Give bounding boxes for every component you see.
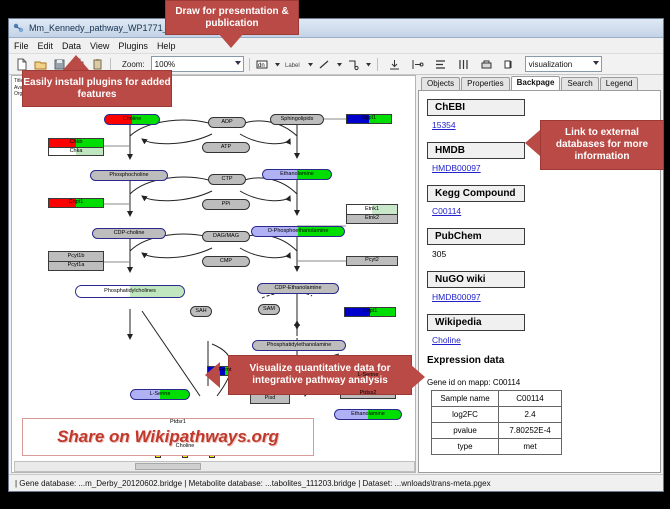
cell-key: log2FC xyxy=(432,407,499,423)
label-icon[interactable]: Label xyxy=(284,56,304,72)
menu-item-plugins[interactable]: Plugins xyxy=(118,41,148,51)
callout-links: Link to external databases for more info… xyxy=(540,120,664,170)
datanode-icon[interactable]: dn xyxy=(255,56,271,72)
node-pisd[interactable]: Pisd xyxy=(250,394,290,404)
node-pcyt1b[interactable]: Pcyt1b xyxy=(48,251,104,261)
db-link-kegg-compound[interactable]: C00114 xyxy=(432,206,652,216)
expression-table: Sample name C00114 log2FC 2.4 pvalue 7.8… xyxy=(431,390,562,455)
tab-properties[interactable]: Properties xyxy=(461,77,509,90)
label-dropdown-icon[interactable] xyxy=(307,56,314,72)
group-icon[interactable] xyxy=(479,56,495,72)
node-l-serine-left[interactable]: L-Serine xyxy=(130,389,190,400)
gene-id-on-mapp: Gene id on mapp: C00114 xyxy=(427,378,652,387)
node-chkb[interactable]: Chkb xyxy=(48,138,104,147)
node-choline-top[interactable]: Choline xyxy=(104,114,160,125)
db-link-wikipedia[interactable]: Choline xyxy=(432,335,652,345)
callout-draw-arrow xyxy=(218,33,244,48)
zoom-label: Zoom: xyxy=(122,60,145,69)
node-cdp-ethanolamine[interactable]: CDP-Ethanolamine xyxy=(257,283,339,294)
node-phosphocholine[interactable]: Phosphocholine xyxy=(90,170,168,181)
cell-key: Sample name xyxy=(432,391,499,407)
node-cept1[interactable]: Cept1 xyxy=(344,307,396,317)
callout-plugins: Easily install plugins for added feature… xyxy=(22,70,172,107)
pathway-drawing: Title: Availa Organi xyxy=(12,76,415,472)
db-header-kegg-compound: Kegg Compound xyxy=(427,185,525,202)
node-cmp[interactable]: CMP xyxy=(202,256,250,267)
table-row: log2FC 2.4 xyxy=(432,407,562,423)
interaction-icon[interactable] xyxy=(346,56,362,72)
share-banner-text: Share on Wikipathways.org xyxy=(57,427,279,447)
menu-item-view[interactable]: View xyxy=(90,41,109,51)
pathway-canvas[interactable]: Title: Availa Organi xyxy=(11,75,416,473)
db-link-nugo-wiki[interactable]: HMDB00097 xyxy=(432,292,652,302)
callout-visualize: Visualize quantitative data for integrat… xyxy=(228,355,412,395)
toolbar-separator xyxy=(110,58,111,71)
screenshot-root: Mm_Kennedy_pathway_WP1771_45176.gpml Fil… xyxy=(0,0,670,509)
node-ctp[interactable]: CTP xyxy=(208,174,246,185)
visualization-combo[interactable]: visualization xyxy=(525,56,602,72)
svg-text:Label: Label xyxy=(285,63,300,69)
table-row: Sample name C00114 xyxy=(432,391,562,407)
tab-backpage[interactable]: Backpage xyxy=(511,76,561,90)
order-icon[interactable] xyxy=(502,56,518,72)
status-bar: | Gene database: ...m_Derby_20120602.bri… xyxy=(9,474,663,491)
pathvisio-icon xyxy=(13,23,24,34)
node-dag-mag[interactable]: DAG/MAG xyxy=(202,231,250,242)
node-ethanolamine-top[interactable]: Ethanolamine xyxy=(262,169,332,180)
expression-data-heading: Expression data xyxy=(427,355,652,366)
align-bottom-icon[interactable] xyxy=(387,56,403,72)
menu-item-help[interactable]: Help xyxy=(157,41,176,51)
tab-search[interactable]: Search xyxy=(561,77,598,90)
node-o-phosphoethanolamine[interactable]: O-Phosphoethanolamine xyxy=(251,226,345,237)
tab-objects[interactable]: Objects xyxy=(421,77,460,90)
node-adp[interactable]: ADP xyxy=(208,117,246,128)
callout-plugins-arrow xyxy=(63,55,89,70)
cell-value: C00114 xyxy=(499,391,562,407)
menu-item-data[interactable]: Data xyxy=(62,41,81,51)
node-atp[interactable]: ATP xyxy=(202,142,250,153)
status-text: | Gene database: ...m_Derby_20120602.bri… xyxy=(9,479,491,488)
canvas-hscroll-thumb[interactable] xyxy=(135,463,201,470)
db-value-pubchem: 305 xyxy=(432,249,652,259)
table-row: type met xyxy=(432,439,562,455)
node-chka[interactable]: Chka xyxy=(48,147,104,156)
stack-icon[interactable] xyxy=(433,56,449,72)
node-sphingolipids[interactable]: Sphingolipids xyxy=(270,114,324,125)
cell-key: pvalue xyxy=(432,423,499,439)
callout-visualize-arrow-left xyxy=(205,362,220,388)
node-ppi[interactable]: PPi xyxy=(202,199,250,210)
db-header-chebi: ChEBI xyxy=(427,99,525,116)
canvas-hscrollbar[interactable] xyxy=(14,461,415,472)
tab-legend[interactable]: Legend xyxy=(600,77,639,90)
callout-visualize-arrow xyxy=(410,364,425,390)
line-dropdown-icon[interactable] xyxy=(336,56,343,72)
toolbar-separator xyxy=(377,58,378,71)
visualization-value: visualization xyxy=(529,60,573,69)
zoom-value: 100% xyxy=(155,60,175,69)
node-cdp-choline[interactable]: CDP-choline xyxy=(92,228,166,239)
menu-item-file[interactable]: File xyxy=(14,41,29,51)
db-header-nugo-wiki: NuGO wiki xyxy=(427,271,525,288)
side-tabs: Objects Properties Backpage Search Legen… xyxy=(418,75,661,90)
svg-text:dn: dn xyxy=(258,63,265,69)
datanode-dropdown-icon[interactable] xyxy=(274,56,281,72)
chevron-down-icon xyxy=(235,61,241,65)
distribute-icon[interactable] xyxy=(456,56,472,72)
node-etnk2[interactable]: Etnk2 xyxy=(346,214,398,224)
callout-links-arrow xyxy=(525,130,540,156)
table-row: pvalue 7.80252E-4 xyxy=(432,423,562,439)
node-chpt1[interactable]: Chpt1 xyxy=(48,198,104,208)
cell-value: 7.80252E-4 xyxy=(499,423,562,439)
toolbar-separator xyxy=(249,58,250,71)
node-etnk1[interactable]: Etnk1 xyxy=(346,204,398,214)
db-header-wikipedia: Wikipedia xyxy=(427,314,525,331)
node-ethanolamine-bottom[interactable]: Ethanolamine xyxy=(334,409,402,420)
db-header-hmdb: HMDB xyxy=(427,142,525,159)
cell-key: type xyxy=(432,439,499,455)
node-sah[interactable]: SAH xyxy=(190,306,212,317)
cell-value: met xyxy=(499,439,562,455)
menu-bar: File Edit Data View Plugins Help xyxy=(9,38,663,54)
title-bar: Mm_Kennedy_pathway_WP1771_45176.gpml xyxy=(9,19,663,38)
align-left-icon[interactable] xyxy=(410,56,426,72)
db-header-pubchem: PubChem xyxy=(427,228,525,245)
chevron-down-icon xyxy=(593,61,599,65)
cell-value: 2.4 xyxy=(499,407,562,423)
node-pcyt2[interactable]: Pcyt2 xyxy=(346,256,398,266)
line-icon[interactable] xyxy=(317,56,333,72)
share-banner: Share on Wikipathways.org xyxy=(22,418,314,456)
node-sgpl1[interactable]: Sgpl1 xyxy=(346,114,392,124)
node-phosphatidylethanolamine[interactable]: Phosphatidylethanolamine xyxy=(252,340,346,351)
node-phosphatidylcholines[interactable]: Phosphatidylcholines xyxy=(75,285,185,298)
menu-item-edit[interactable]: Edit xyxy=(38,41,54,51)
interaction-dropdown-icon[interactable] xyxy=(365,56,372,72)
callout-draw: Draw for presentation & publication xyxy=(165,0,299,35)
node-sam[interactable]: SAM xyxy=(258,304,280,315)
node-pcyt1a[interactable]: Pcyt1a xyxy=(48,261,104,271)
